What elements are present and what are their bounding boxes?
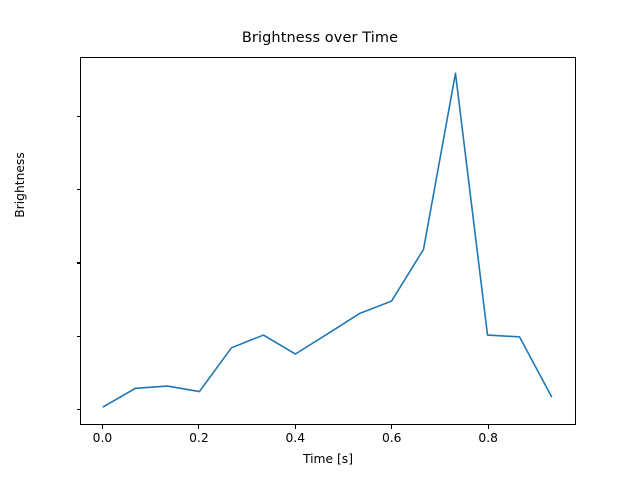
brightness-line: [103, 73, 551, 407]
x-axis-label: Time [s]: [80, 452, 576, 466]
matplotlib-figure: Brightness over Time Brightness Time [s]…: [0, 0, 640, 480]
x-tick-label: 0.4: [265, 431, 325, 445]
data-line-svg: [81, 58, 575, 424]
x-tick-mark: [198, 425, 199, 429]
x-tick-label: 0.6: [362, 431, 422, 445]
x-tick-label: 0.8: [458, 431, 518, 445]
x-tick-mark: [295, 425, 296, 429]
x-tick-label: 0.0: [72, 431, 132, 445]
x-tick-mark: [488, 425, 489, 429]
plot-area: [80, 57, 576, 425]
y-axis-label: Brightness: [13, 115, 27, 255]
x-tick-label: 0.2: [169, 431, 229, 445]
x-tick-mark: [391, 425, 392, 429]
x-tick-mark: [102, 425, 103, 429]
chart-title: Brightness over Time: [0, 30, 640, 46]
